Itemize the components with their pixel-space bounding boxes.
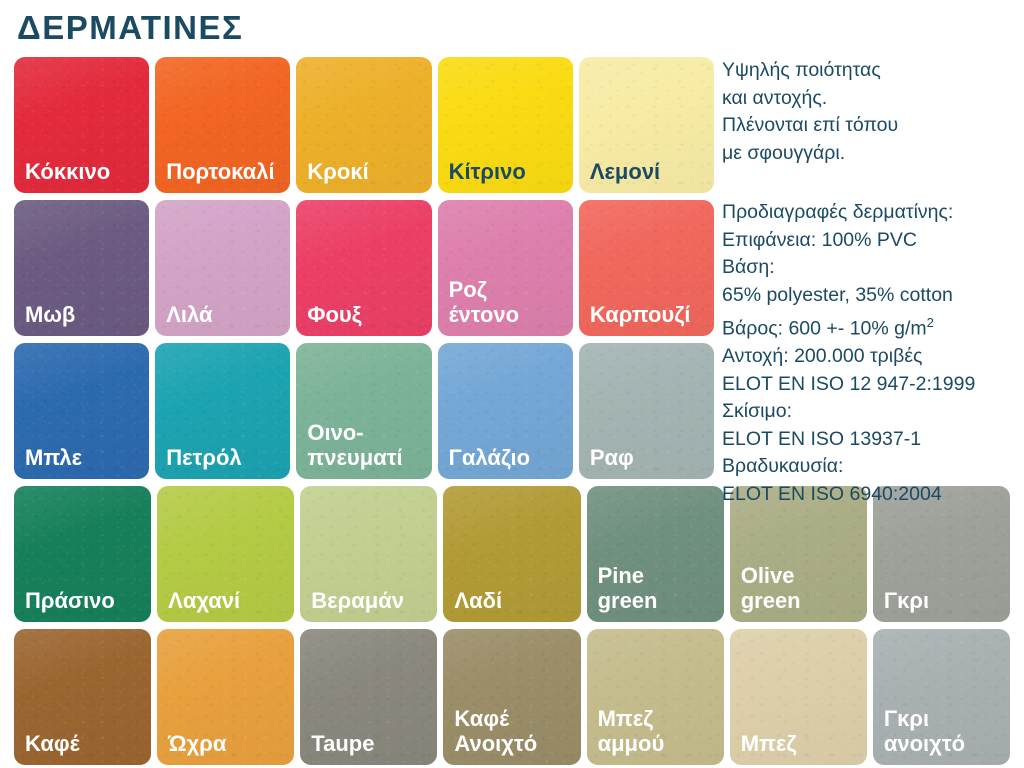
- color-swatch[interactable]: Μπεζ αμμού: [587, 629, 724, 765]
- color-swatch[interactable]: Taupe: [300, 629, 437, 765]
- color-swatch[interactable]: Ραφ: [579, 343, 714, 479]
- color-swatch[interactable]: Κροκί: [296, 57, 431, 193]
- swatch-label: Λιλά: [155, 302, 212, 336]
- swatch-label: Pine green: [587, 563, 658, 622]
- swatch-label: Κόκκινο: [14, 159, 110, 193]
- swatch-label: Γκρι ανοιχτό: [873, 706, 965, 765]
- color-swatch[interactable]: Καφέ: [14, 629, 151, 765]
- color-swatch[interactable]: Ροζ έντονο: [438, 200, 573, 336]
- color-swatch-chart: ΔΕΡΜΑΤΙΝΕΣ ΚόκκινοΠορτοκαλίΚροκίΚίτρινοΛ…: [0, 0, 1024, 768]
- swatch-label: Καρπουζί: [579, 302, 691, 336]
- color-swatch[interactable]: Ώχρα: [157, 629, 294, 765]
- color-swatch[interactable]: Καρπουζί: [579, 200, 714, 336]
- color-swatch[interactable]: Λιλά: [155, 200, 290, 336]
- color-swatch[interactable]: Πράσινο: [14, 486, 151, 622]
- color-swatch[interactable]: Λαχανί: [157, 486, 294, 622]
- swatch-label: Μπεζ αμμού: [587, 706, 665, 765]
- specifications-text: Προδιαγραφές δερματίνης: Επιφάνεια: 100%…: [722, 199, 1024, 508]
- color-swatch[interactable]: Καφέ Ανοιχτό: [443, 629, 580, 765]
- swatch-label: Μπλε: [14, 445, 82, 479]
- swatch-label: Μωβ: [14, 302, 75, 336]
- swatch-label: Λαδί: [443, 588, 502, 622]
- color-swatch[interactable]: Μπλε: [14, 343, 149, 479]
- swatch-row-warm: ΚόκκινοΠορτοκαλίΚροκίΚίτρινοΛεμονί: [14, 57, 714, 193]
- swatch-label: Γκρι: [873, 588, 929, 622]
- swatch-label: Taupe: [300, 731, 374, 765]
- swatch-row-purple-pink: ΜωβΛιλάΦουξΡοζ έντονοΚαρπουζί: [14, 200, 714, 336]
- color-swatch[interactable]: Βεραμάν: [300, 486, 437, 622]
- color-swatch[interactable]: Κίτρινο: [438, 57, 573, 193]
- page-title: ΔΕΡΜΑΤΙΝΕΣ: [17, 9, 243, 47]
- swatch-label: Λαχανί: [157, 588, 240, 622]
- color-swatch[interactable]: Γαλάζιο: [438, 343, 573, 479]
- color-swatch[interactable]: Μωβ: [14, 200, 149, 336]
- color-swatch[interactable]: Γκρι ανοιχτό: [873, 629, 1010, 765]
- color-swatch[interactable]: Πορτοκαλί: [155, 57, 290, 193]
- swatch-label: Φουξ: [296, 302, 361, 336]
- swatch-label: Κίτρινο: [438, 159, 526, 193]
- swatch-label: Πορτοκαλί: [155, 159, 274, 193]
- swatch-label: Πράσινο: [14, 588, 115, 622]
- color-swatch[interactable]: Κόκκινο: [14, 57, 149, 193]
- superscript-two: 2: [927, 315, 934, 330]
- color-swatch[interactable]: Λαδί: [443, 486, 580, 622]
- color-swatch[interactable]: Μπεζ: [730, 629, 867, 765]
- swatch-label: Καφέ Ανοιχτό: [443, 706, 537, 765]
- color-swatch[interactable]: Οινο- πνευματί: [296, 343, 431, 479]
- color-swatch[interactable]: Pine green: [587, 486, 724, 622]
- swatch-label: Οινο- πνευματί: [296, 420, 402, 479]
- swatch-label: Γαλάζιο: [438, 445, 530, 479]
- swatch-row-blue-green: ΜπλεΠετρόλΟινο- πνευματίΓαλάζιοΡαφ: [14, 343, 714, 479]
- swatch-label: Βεραμάν: [300, 588, 404, 622]
- swatch-label: Ώχρα: [157, 731, 226, 765]
- description-text: Υψηλής ποιότητας και αντοχής. Πλένονται …: [722, 57, 1022, 167]
- color-swatch[interactable]: Πετρόλ: [155, 343, 290, 479]
- color-swatch[interactable]: Λεμονί: [579, 57, 714, 193]
- swatch-label: Ροζ έντονο: [438, 277, 519, 336]
- swatch-label: Ραφ: [579, 445, 634, 479]
- swatch-label: Λεμονί: [579, 159, 660, 193]
- swatch-row-browns: ΚαφέΏχραTaupeΚαφέ ΑνοιχτόΜπεζ αμμούΜπεζΓ…: [14, 629, 1010, 765]
- swatch-label: Πετρόλ: [155, 445, 241, 479]
- color-swatch[interactable]: Φουξ: [296, 200, 431, 336]
- swatch-label: Olive green: [730, 563, 801, 622]
- swatch-label: Μπεζ: [730, 731, 797, 765]
- swatch-label: Καφέ: [14, 731, 80, 765]
- swatch-label: Κροκί: [296, 159, 368, 193]
